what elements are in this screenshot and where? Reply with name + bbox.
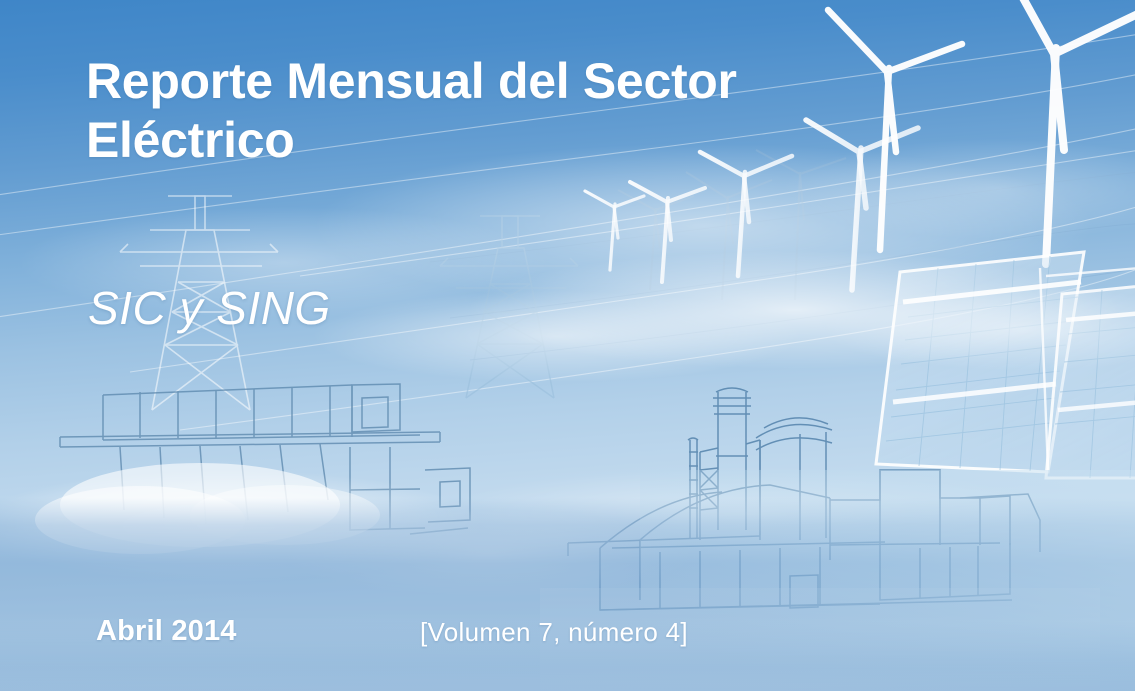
- cover-issue-date: Abril 2014: [96, 615, 237, 648]
- dam-water-spray: [35, 463, 380, 554]
- report-cover-page: Reporte Mensual del Sector Eléctrico SIC…: [0, 0, 1135, 691]
- solar-panel: [1046, 280, 1135, 478]
- cover-issue-volume: [Volumen 7, número 4]: [420, 617, 688, 648]
- transmission-tower-center: [440, 216, 578, 398]
- solar-panel-array: [876, 252, 1135, 478]
- cover-subtitle: SIC y SING: [88, 281, 331, 335]
- cover-title: Reporte Mensual del Sector Eléctrico: [86, 52, 876, 170]
